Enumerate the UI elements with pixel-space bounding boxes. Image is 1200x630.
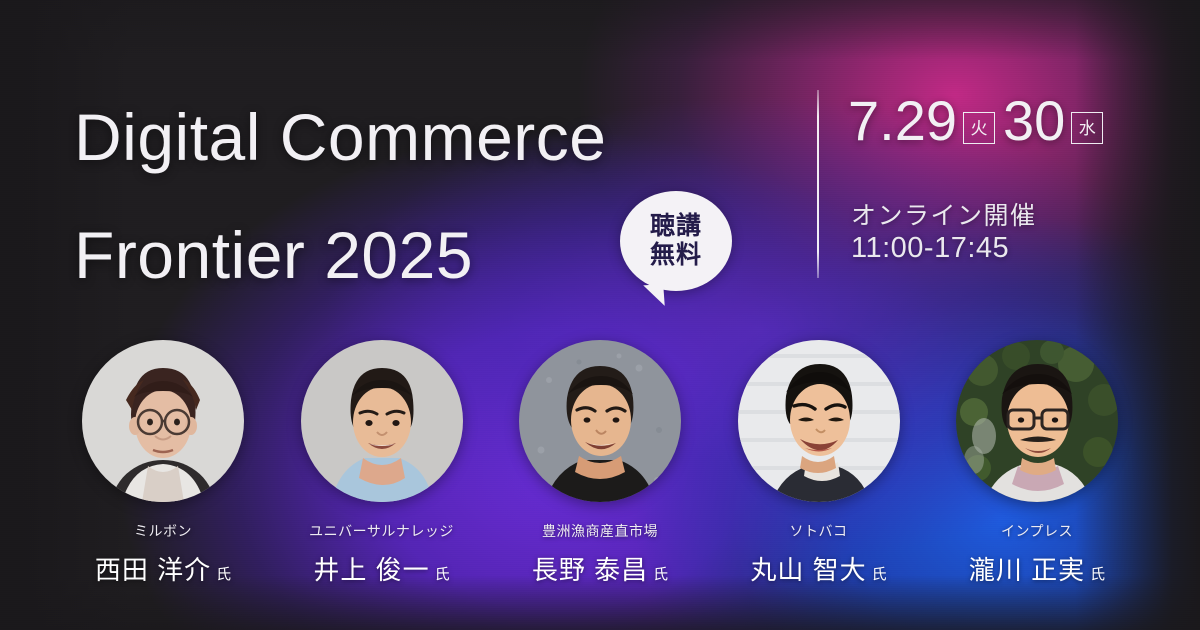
- event-date-secondary: 30: [1003, 90, 1065, 152]
- speaker-portrait-nishida: [82, 340, 244, 502]
- day-of-week-badge-2: 水: [1071, 112, 1103, 144]
- speaker-company: インプレス: [1001, 521, 1073, 541]
- speaker-name-suffix: 氏: [1090, 566, 1105, 583]
- speaker-card-5: インプレス 瀧川 正実氏: [928, 340, 1146, 587]
- speaker-name-text: 井上 俊一: [313, 555, 429, 585]
- event-date-primary: 7.29: [848, 90, 957, 152]
- speaker-name: 瀧川 正実氏: [969, 550, 1105, 587]
- speaker-name: 丸山 智大氏: [750, 550, 886, 587]
- speaker-name-text: 丸山 智大: [750, 555, 866, 585]
- speaker-name-suffix: 氏: [653, 566, 668, 583]
- speaker-name-suffix: 氏: [216, 566, 231, 583]
- speaker-portrait-takigawa: [956, 340, 1118, 502]
- day-of-week-badge-1: 火: [963, 112, 995, 144]
- speaker-name-text: 長野 泰昌: [532, 555, 648, 585]
- badge-line-2: 無料: [650, 241, 702, 270]
- badge-line-1: 聴講: [650, 212, 702, 241]
- event-venue: オンライン開催: [851, 196, 1037, 232]
- event-title-line-1: Digital Commerce: [74, 78, 606, 196]
- speaker-name: 長野 泰昌氏: [532, 550, 668, 587]
- event-date-row: 7.29 火 30 水: [848, 90, 1109, 152]
- speaker-company: 豊洲漁商産直市場: [542, 521, 658, 541]
- speaker-portrait-inoue: [301, 340, 463, 502]
- event-banner: Digital Commerce Frontier 2025 聴講 無料 7.2…: [0, 0, 1200, 630]
- speaker-name-text: 西田 洋介: [95, 555, 211, 585]
- speaker-card-2: ユニバーサルナレッジ 井上 俊一氏: [273, 340, 491, 587]
- vertical-divider: [817, 90, 819, 278]
- speaker-list: ミルボン 西田 洋介氏: [54, 340, 1146, 587]
- speaker-card-3: 豊洲漁商産直市場 長野 泰昌氏: [491, 340, 709, 587]
- speaker-card-1: ミルボン 西田 洋介氏: [54, 340, 272, 587]
- speaker-card-4: ソトバコ 丸山 智大氏: [710, 340, 928, 587]
- speaker-name: 井上 俊一氏: [313, 550, 449, 587]
- speaker-name-suffix: 氏: [872, 566, 887, 583]
- speaker-name-text: 瀧川 正実: [969, 555, 1085, 585]
- speaker-portrait-nagano: [519, 340, 681, 502]
- speaker-name: 西田 洋介氏: [95, 550, 231, 587]
- event-time: 11:00-17:45: [851, 232, 1009, 265]
- event-title-line-2: Frontier 2025: [74, 196, 473, 314]
- speaker-portrait-maruyama: [738, 340, 900, 502]
- badge-tail-icon: [633, 284, 664, 308]
- free-admission-badge: 聴講 無料: [620, 191, 732, 291]
- speaker-company: ミルボン: [134, 521, 192, 541]
- speaker-company: ユニバーサルナレッジ: [309, 521, 454, 541]
- speaker-company: ソトバコ: [790, 521, 848, 541]
- speaker-name-suffix: 氏: [435, 566, 450, 583]
